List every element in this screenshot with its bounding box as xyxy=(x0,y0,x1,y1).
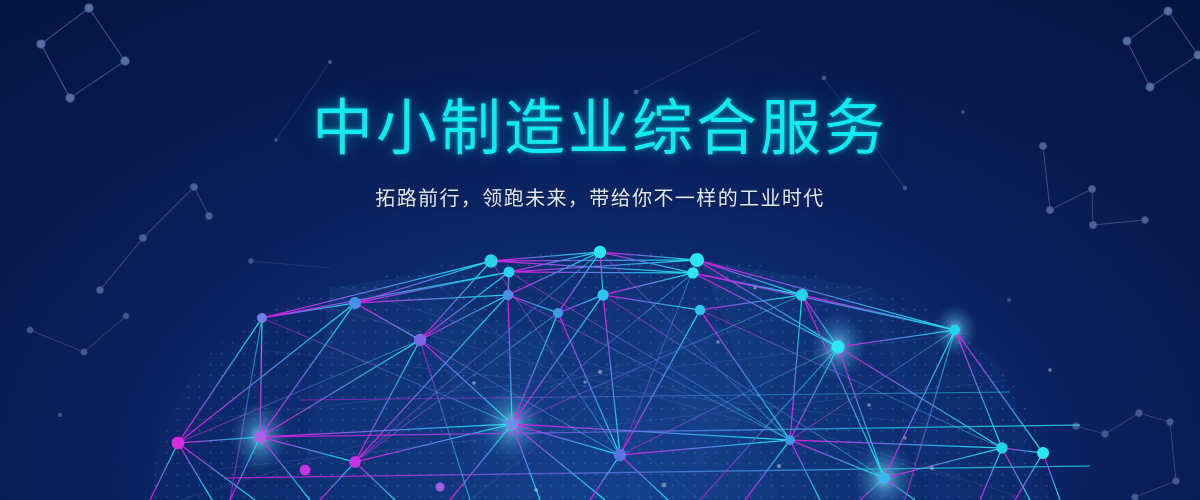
hero-banner: 中小制造业综合服务 拓路前行，领跑未来，带给你不一样的工业时代 xyxy=(0,0,1200,500)
dome-facets xyxy=(150,252,1050,500)
page-subtitle: 拓路前行，领跑未来，带给你不一样的工业时代 xyxy=(0,184,1200,212)
network-dome xyxy=(0,0,1200,500)
headline-block: 中小制造业综合服务 拓路前行，领跑未来，带给你不一样的工业时代 xyxy=(0,96,1200,212)
page-title: 中小制造业综合服务 xyxy=(0,96,1200,162)
